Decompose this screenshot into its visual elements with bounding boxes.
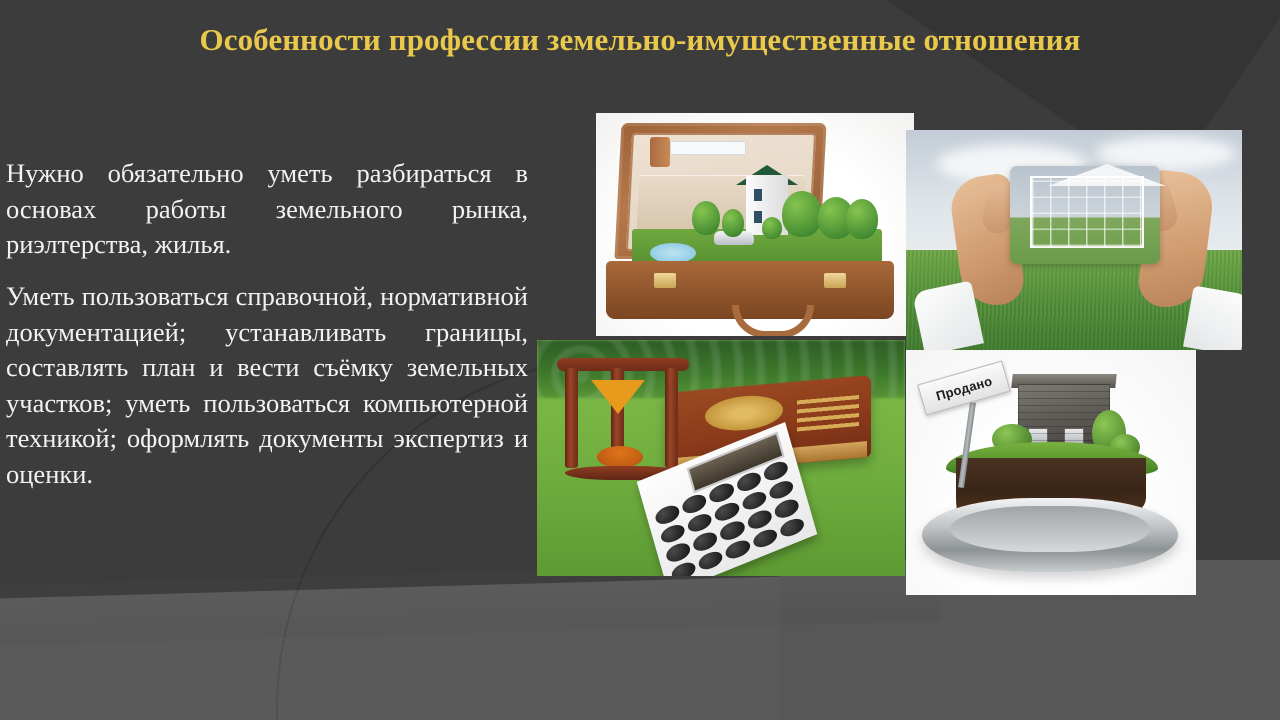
tablet-device	[1010, 166, 1160, 264]
calculator-key	[681, 491, 709, 515]
briefcase-house-window	[754, 189, 762, 201]
image-briefcase-landscape	[596, 113, 914, 336]
calculator-key	[773, 496, 801, 520]
briefcase-tree	[692, 201, 720, 235]
calculator-key	[778, 515, 806, 539]
briefcase-strap	[650, 137, 670, 167]
hourglass-column	[665, 368, 678, 468]
book-gold-title	[797, 394, 859, 431]
wireframe-house-roof	[1048, 164, 1166, 186]
slide-body-text: Нужно обязательно уметь разбираться в ос…	[6, 156, 528, 493]
hourglass-lower-sand	[597, 446, 643, 468]
calculator-key	[691, 529, 719, 553]
calculator-key	[664, 540, 692, 564]
calculator-key	[659, 521, 687, 545]
wireframe-house-overlay	[1030, 176, 1144, 248]
briefcase-tree	[846, 199, 878, 239]
metal-plate-inner	[950, 506, 1150, 552]
briefcase-latch	[654, 273, 676, 288]
calculator-key	[686, 510, 714, 534]
calculator-key	[751, 526, 779, 550]
calculator-key	[746, 507, 774, 531]
briefcase-tree	[782, 191, 822, 237]
calculator-key	[697, 548, 725, 572]
briefcase-latch	[824, 273, 846, 288]
briefcase-tree	[722, 209, 744, 237]
image-hourglass-code-calculator	[537, 340, 905, 576]
briefcase-house-window	[754, 211, 762, 223]
briefcase-tree	[762, 217, 782, 239]
calculator-key	[724, 537, 752, 561]
body-paragraph-1: Нужно обязательно уметь разбираться в ос…	[6, 156, 528, 263]
hourglass-column	[565, 368, 578, 468]
briefcase-document	[670, 141, 746, 155]
briefcase-pond	[650, 243, 696, 263]
calculator-key	[654, 502, 682, 526]
body-paragraph-2: Уметь пользоваться справочной, нормативн…	[6, 279, 528, 493]
slide-canvas: Особенности профессии земельно-имуществе…	[0, 0, 1280, 720]
calculator-key	[719, 518, 747, 542]
image-land-plot-sold: Продано	[906, 350, 1196, 595]
image-hands-tablet-house	[906, 130, 1242, 350]
sold-sign-label: Продано	[934, 373, 994, 403]
right-shirt-cuff	[1183, 285, 1242, 350]
hourglass-upper-sand	[591, 380, 645, 414]
calculator-key	[767, 477, 795, 501]
slide-title: Особенности профессии земельно-имуществе…	[150, 20, 1130, 61]
